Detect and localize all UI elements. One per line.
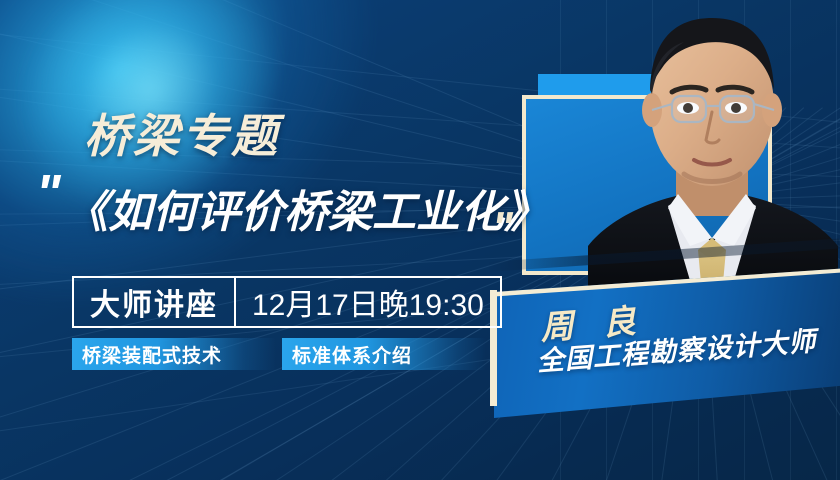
page-subtitle: 《如何评价桥梁工业化》 (64, 176, 548, 240)
page-title: 桥梁专题 (84, 100, 280, 166)
speaker-nameplate: 周 良 全国工程勘察设计大师 (486, 268, 840, 418)
lecture-info-bar: 大师讲座 12月17日晚19:30 (72, 276, 502, 328)
lecture-datetime: 12月17日晚19:30 (236, 278, 500, 326)
topic-tag-1: 桥梁装配式技术 (72, 338, 276, 370)
nameplate-text-group: 周 良 全国工程勘察设计大师 (481, 255, 840, 431)
topic-tags: 桥梁装配式技术 标准体系介绍 (72, 338, 486, 370)
quote-open-mark: " (36, 168, 59, 220)
poster-canvas: 周 良 全国工程勘察设计大师 " 桥梁专题 《如何评价桥梁工业化》 " 大师讲座… (0, 0, 840, 480)
quote-close-mark: " (492, 206, 511, 250)
topic-tag-2: 标准体系介绍 (282, 338, 486, 370)
lecture-type-label: 大师讲座 (74, 278, 234, 326)
